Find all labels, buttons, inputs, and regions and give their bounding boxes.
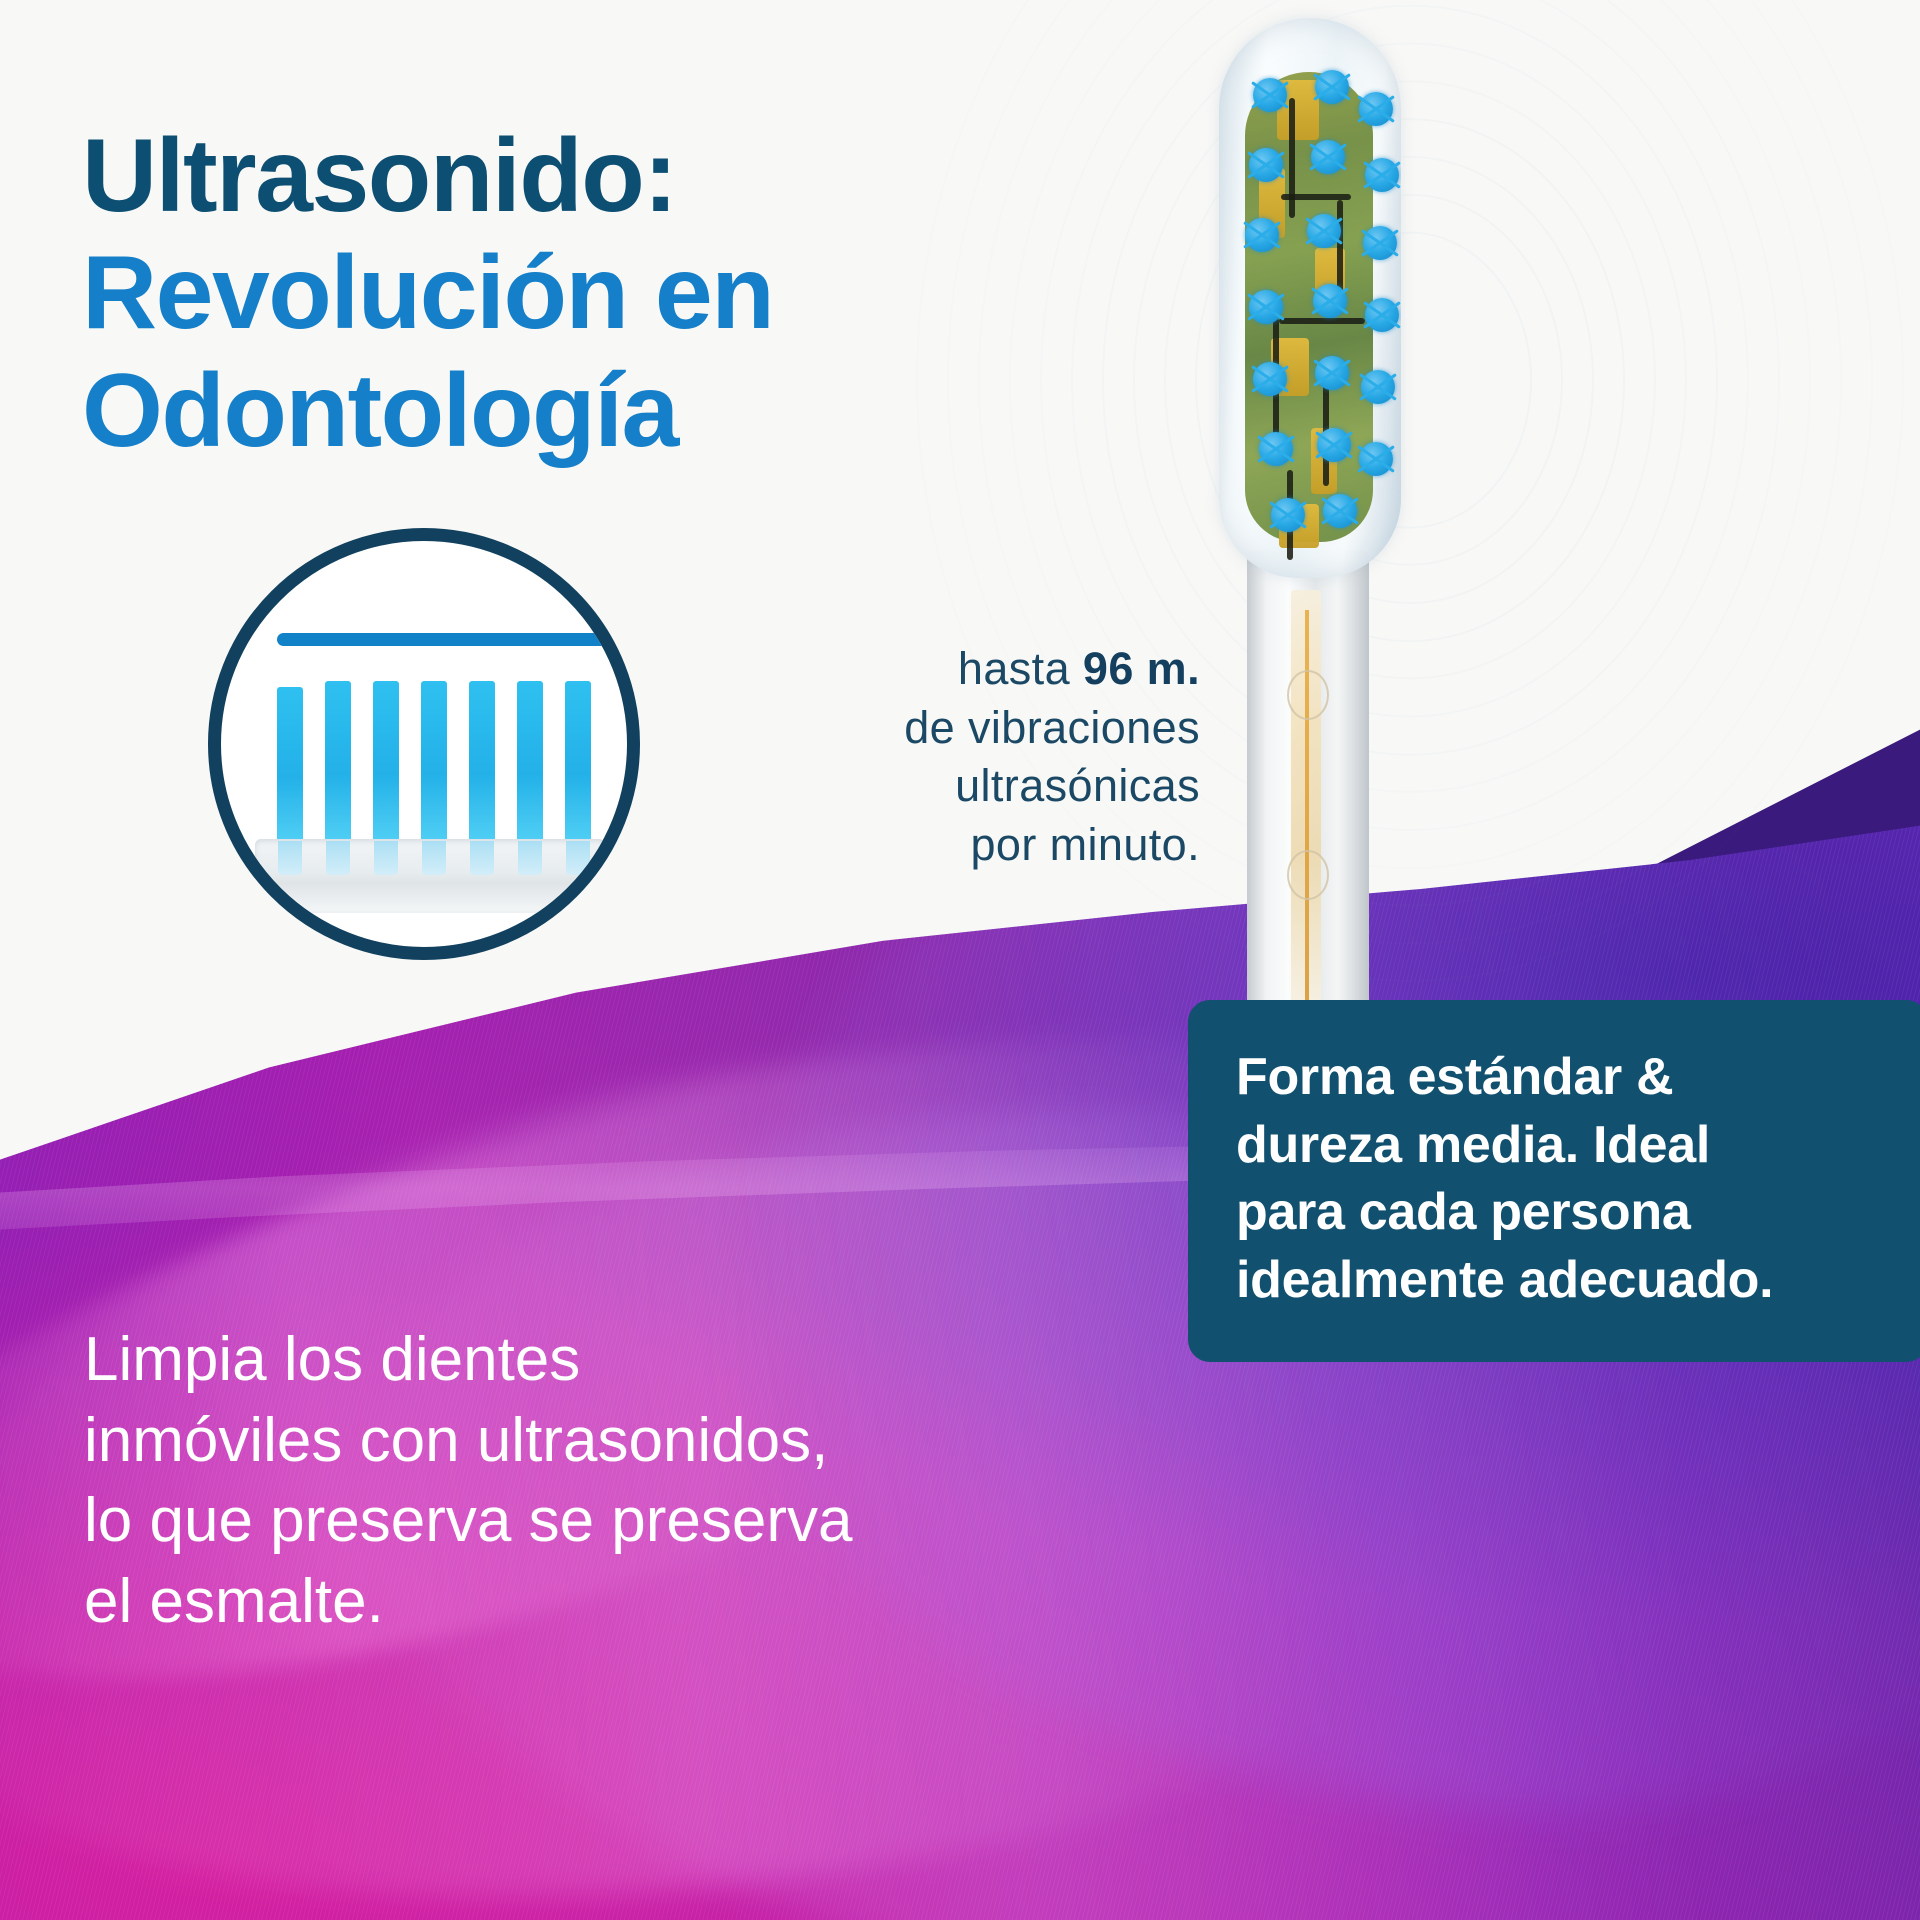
base-slot [518, 841, 542, 875]
vibration-note-line-2: de vibraciones [800, 699, 1200, 758]
feature-card: Forma estándar & dureza media. Ideal par… [1188, 1000, 1920, 1362]
base-slot [374, 841, 398, 875]
shaft-ring-2 [1287, 850, 1329, 900]
headline-line-3: Odontología [82, 353, 982, 471]
base-slot [566, 841, 590, 875]
brush-shaft [1247, 550, 1369, 1030]
bottom-description: Limpia los dientes inmóviles con ultraso… [84, 1320, 1164, 1642]
brush-bristle-dot [1245, 218, 1279, 252]
brush-bristle-dot [1313, 284, 1347, 318]
brush-bristle-dot [1365, 158, 1399, 192]
headline-line-1: Ultrasonido: [82, 118, 982, 236]
vibration-note-line-3: ultrasónicas [800, 757, 1200, 816]
brush-bristle-dot [1315, 356, 1349, 390]
bristle-tuft [565, 681, 591, 851]
vibration-note-line-1: hasta 96 m. [800, 640, 1200, 699]
headline-line-2: Revolución en [82, 235, 982, 353]
base-slot [422, 841, 446, 875]
brush-bristle-dot [1365, 298, 1399, 332]
brush-bristle-dot [1307, 214, 1341, 248]
vibration-note-line-4: por minuto. [800, 816, 1200, 875]
base-slot [470, 841, 494, 875]
bottom-line-3: lo que preserva se preserva [84, 1481, 1164, 1562]
blue-accent-bar [277, 633, 607, 646]
brush-capsule [1219, 18, 1401, 578]
base-slot [278, 841, 302, 875]
brush-bristle-dot [1253, 362, 1287, 396]
feature-card-line-2: dureza media. Ideal [1236, 1112, 1880, 1180]
brush-bristle-dot [1259, 432, 1293, 466]
toothbrush-head-graphic [1195, 0, 1445, 1030]
brush-bristle-dot [1311, 140, 1345, 174]
bristle-tuft [373, 681, 399, 851]
vibration-note: hasta 96 m. de vibraciones ultrasónicas … [800, 640, 1200, 874]
brush-bristle-dot [1363, 226, 1397, 260]
brush-bristle-dot [1249, 148, 1283, 182]
brush-bristle-dot [1359, 442, 1393, 476]
bristle-tuft [277, 687, 303, 851]
bottom-line-4: el esmalte. [84, 1562, 1164, 1643]
brush-bristle-dot [1249, 290, 1283, 324]
bristle-tuft [421, 681, 447, 851]
brush-bristle-dot [1253, 78, 1287, 112]
vibration-value: 96 m. [1083, 643, 1200, 694]
feature-card-line-4: idealmente adecuado. [1236, 1247, 1880, 1315]
bristle-tuft [517, 681, 543, 851]
bristle-tuft [325, 681, 351, 851]
brush-bristle-dot [1271, 498, 1305, 532]
feature-card-line-1: Forma estándar & [1236, 1044, 1880, 1112]
poster-root: Ultrasonido: Revolución en Odontología h… [0, 0, 1920, 1920]
vibration-prefix: hasta [958, 643, 1083, 694]
circuit-trace [1289, 98, 1295, 218]
bottom-line-2: inmóviles con ultrasonidos, [84, 1401, 1164, 1482]
shaft-ring-1 [1287, 670, 1329, 720]
feature-card-line-3: para cada persona [1236, 1179, 1880, 1247]
bristle-closeup-circle [208, 528, 640, 960]
page-title: Ultrasonido: Revolución en Odontología [82, 118, 982, 471]
brush-bristle-dot [1359, 92, 1393, 126]
bristle-tuft [469, 681, 495, 851]
brush-bristle-dot [1317, 428, 1351, 462]
circuit-trace [1279, 318, 1365, 324]
base-slot [326, 841, 350, 875]
brush-bristle-dot [1323, 494, 1357, 528]
brush-bristle-dot [1315, 70, 1349, 104]
brush-base-block [255, 839, 605, 913]
bottom-line-1: Limpia los dientes [84, 1320, 1164, 1401]
brush-bristle-dot [1361, 370, 1395, 404]
